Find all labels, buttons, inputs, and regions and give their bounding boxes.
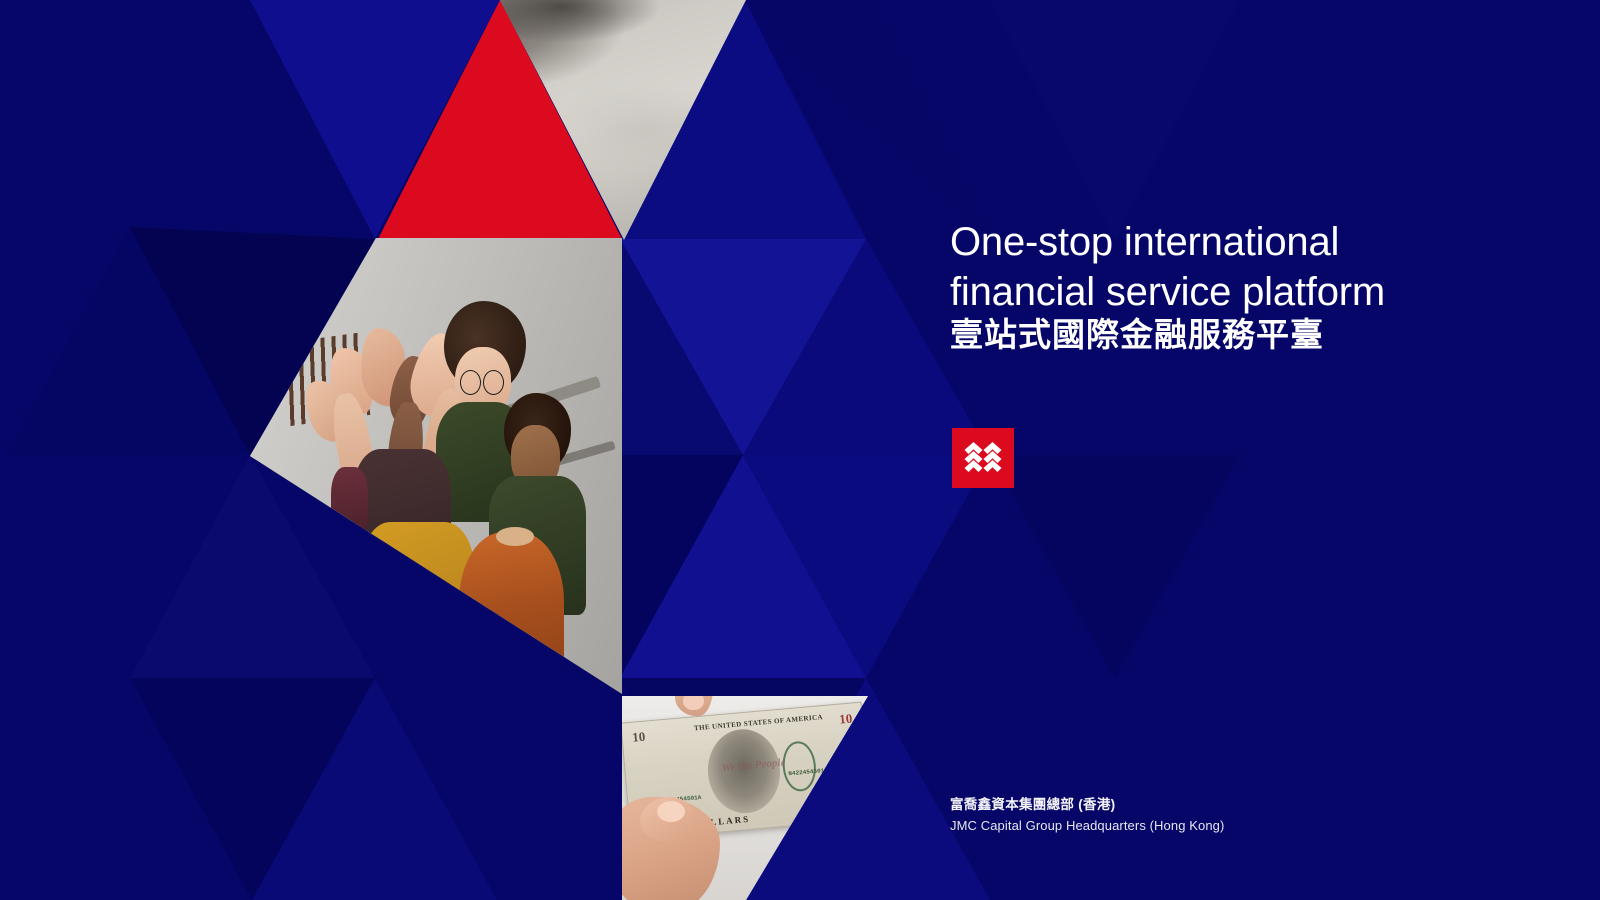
title-slide: 10 10 THE UNITED STATES OF AMERICA We th… [0,0,1600,900]
footer-caption-chinese: 富喬鑫資本集團總部 (香港) [950,794,1370,816]
page-title: One-stop international financial service… [950,217,1510,317]
thumb [640,797,695,842]
treasury-seal [780,739,817,792]
company-logo[interactable] [952,428,1014,488]
content-column: One-stop international financial service… [950,0,1570,900]
hair-clip [496,527,534,545]
glasses-right-lens [483,370,504,395]
thumbnail [657,801,686,823]
bill-denomination-left: 10 [632,728,646,745]
footer-caption: 富喬鑫資本集團總部 (香港) JMC Capital Group Headqua… [950,794,1370,836]
footer-caption-english: JMC Capital Group Headquarters (Hong Kon… [950,816,1370,837]
logo-chevron-mark [963,439,1003,477]
page-title-chinese: 壹站式國際金融服務平臺 [950,308,1324,356]
bill-country-text: THE UNITED STATES OF AMERICA [694,713,824,732]
